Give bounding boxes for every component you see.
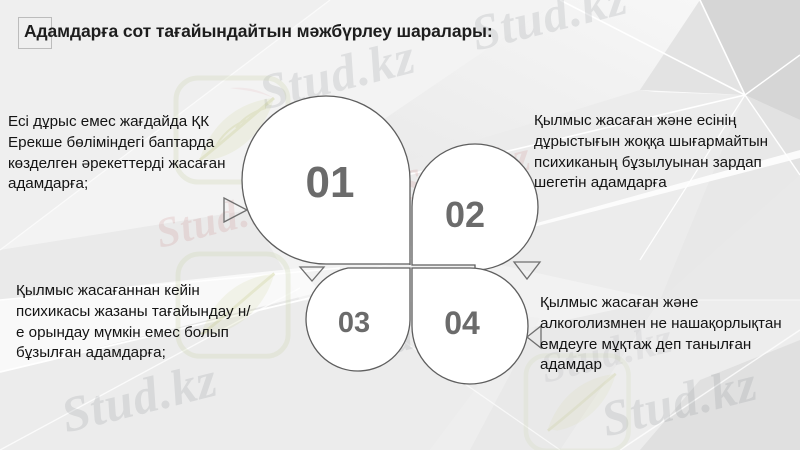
petal-01-description: Есі дұрыс емес жағдайда ҚК Ерекше бөлімі… — [8, 112, 244, 195]
petal-01-number: 01 — [306, 158, 355, 207]
triangle-down-icon — [514, 262, 540, 279]
petal-03-number: 03 — [338, 307, 370, 339]
petal-02-description: Қылмыс жасаған және есінің дұрыстығын жо… — [534, 111, 792, 194]
petal-02-number: 02 — [445, 194, 485, 235]
page-title: Адамдарға сот тағайындайтын мәжбүрлеу ша… — [24, 21, 493, 42]
slide-canvas: Stud.kz Stud.kz Stud.kz Stud.kz Stud.kz … — [0, 0, 800, 450]
triangle-left-icon — [527, 326, 541, 348]
petal-04-description: Қылмыс жасаған және алкоголизмнен не наш… — [540, 293, 796, 376]
petal-04-number: 04 — [444, 305, 480, 341]
triangle-right-icon — [224, 198, 247, 222]
petal-03-description: Қылмыс жасағаннан кейін психикасы жазаны… — [16, 281, 258, 364]
triangle-down-left-icon — [300, 267, 324, 281]
four-petal-diagram: 01 02 03 04 — [222, 92, 552, 384]
title-bar: Адамдарға сот тағайындайтын мәжбүрлеу ша… — [0, 0, 800, 62]
